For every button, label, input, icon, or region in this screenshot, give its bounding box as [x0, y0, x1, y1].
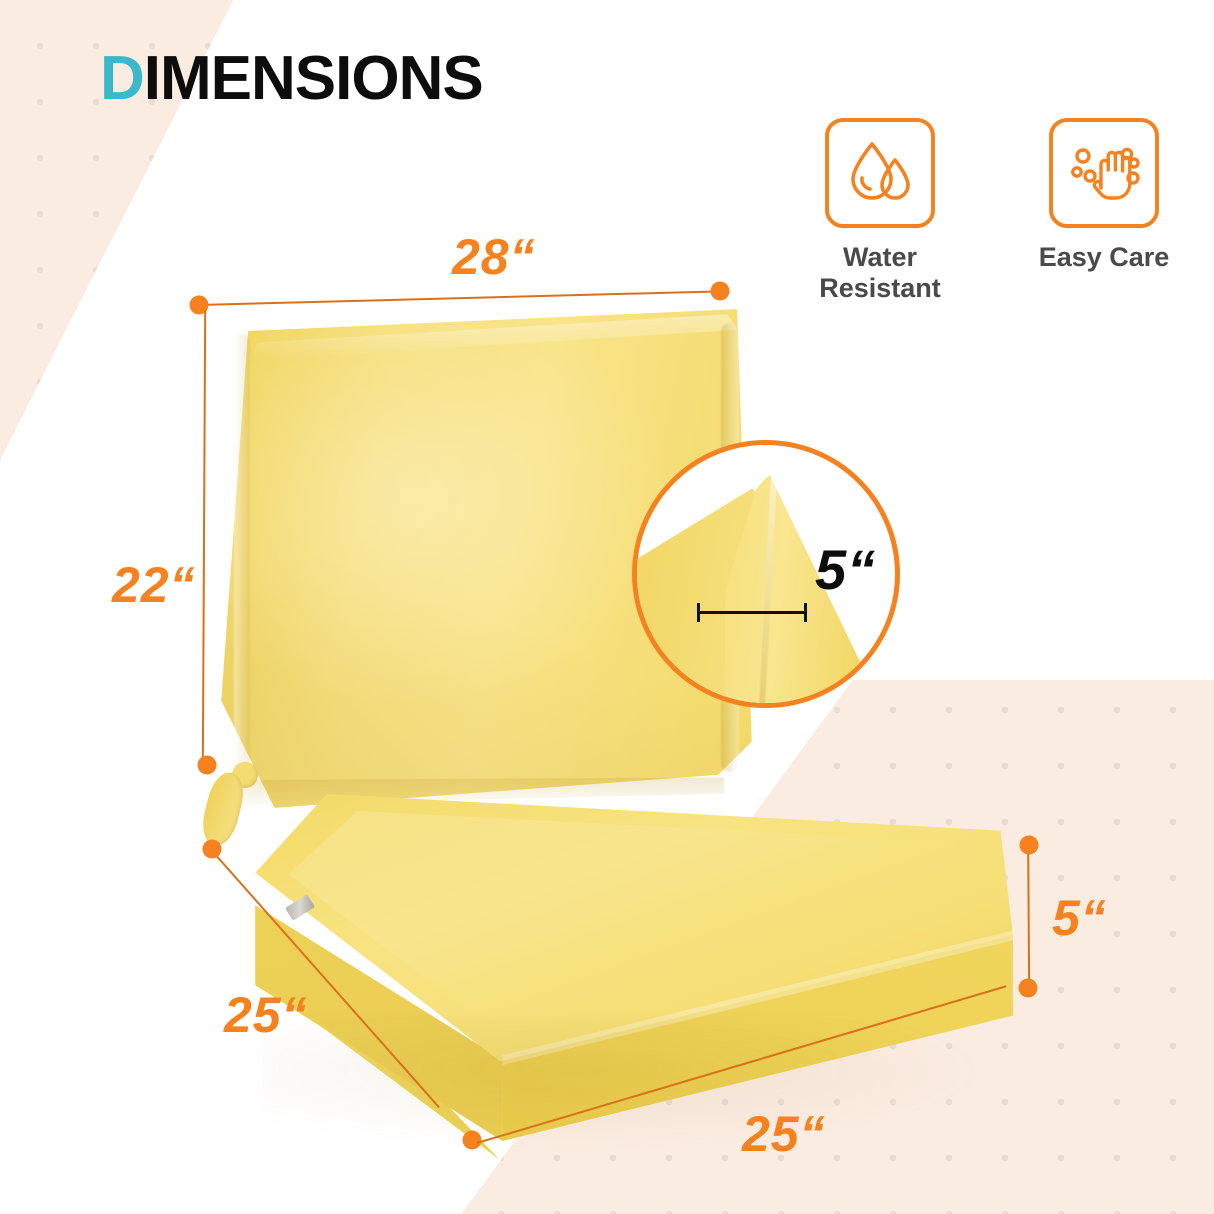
- seat-box-cushion: [246, 780, 1016, 1160]
- dimension-dot-seat-depth-top: [203, 840, 222, 859]
- magnified-dimension-label: 5“: [815, 537, 876, 602]
- dimension-label-back-height: 22“: [112, 556, 196, 614]
- dimension-label-seat-thickness: 5“: [1052, 889, 1107, 947]
- magnifier-back-thickness: 5“: [632, 440, 900, 708]
- dimension-dot-back-width-right: [711, 282, 730, 301]
- magnified-dimension-line: [697, 611, 807, 614]
- magnified-dimension-cap-right: [804, 603, 807, 622]
- magnified-dimension-cap-left: [697, 603, 700, 622]
- back-pillow-left-seam: [234, 334, 250, 773]
- seat-cushion-shadow: [261, 1016, 1000, 1153]
- dimension-label-back-width: 28“: [452, 228, 536, 286]
- dimension-dot-seat-corner: [463, 1131, 482, 1150]
- dimension-dot-back-height-bottom: [198, 756, 217, 775]
- dimension-dot-seat-thickness-bottom: [1019, 979, 1038, 998]
- dimension-label-seat-depth: 25“: [224, 986, 308, 1044]
- dimension-dot-seat-thickness-top: [1020, 836, 1039, 855]
- dimension-label-seat-width: 25“: [742, 1105, 826, 1163]
- infographic-canvas: DIMENSIONS Water Resistant: [0, 0, 1214, 1214]
